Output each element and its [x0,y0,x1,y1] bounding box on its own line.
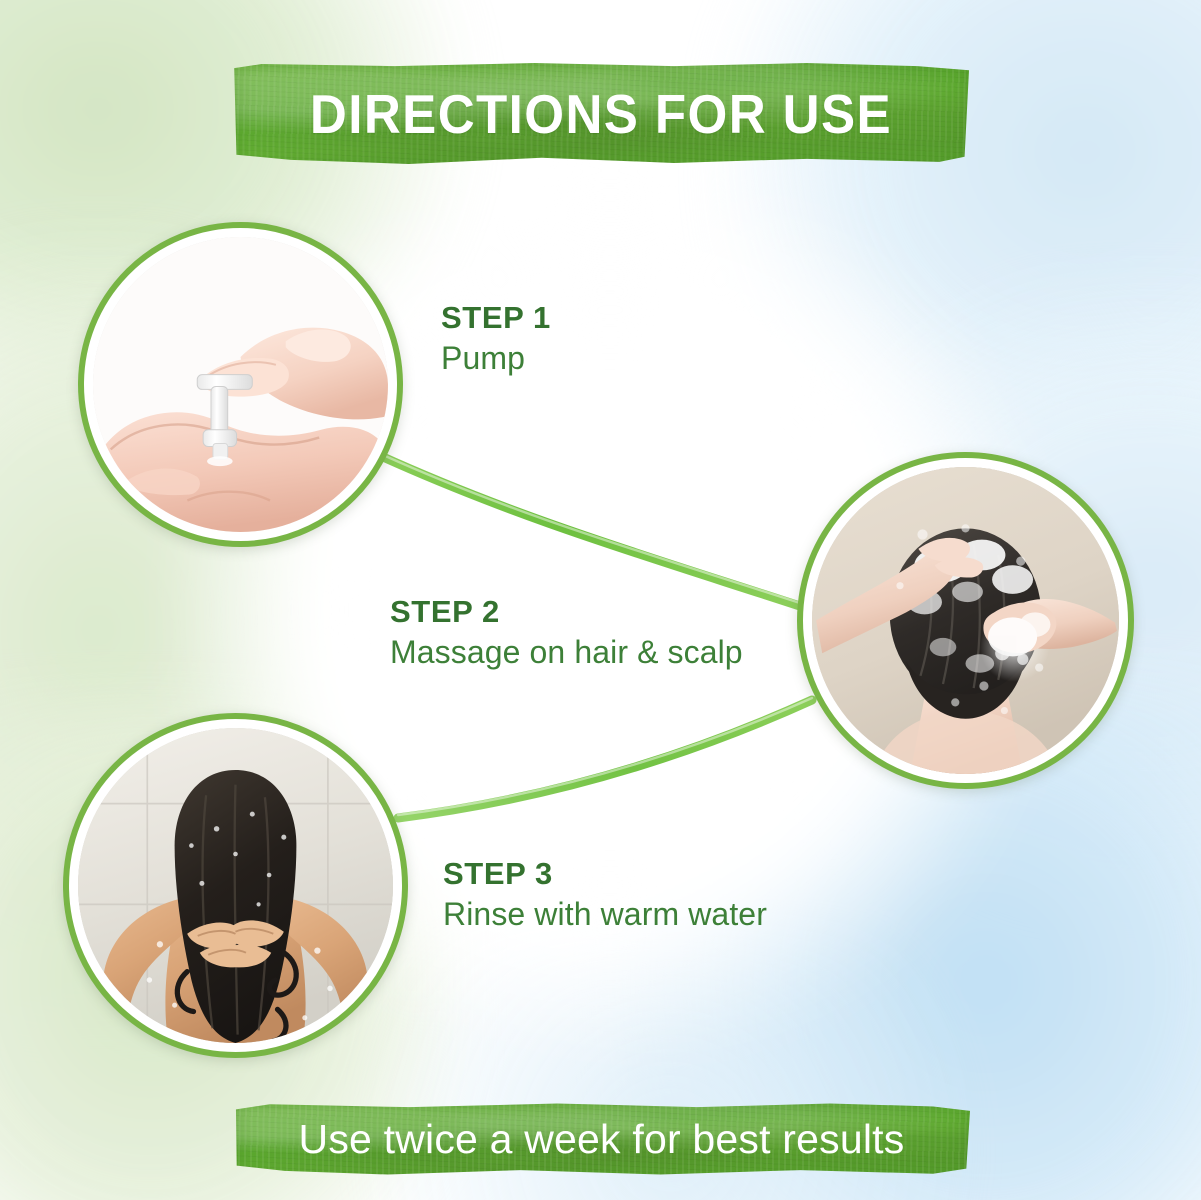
rinse-illustration [78,728,393,1043]
step-1-description: Pump [441,342,551,376]
massage-illustration [812,467,1119,774]
page-title: DIRECTIONS FOR USE [309,82,891,146]
pump-illustration [93,237,388,532]
pump-photo [93,237,388,532]
step-3-number: STEP 3 [443,858,767,889]
footer-banner: Use twice a week for best results [233,1102,970,1176]
step-3-text: STEP 3 Rinse with warm water [443,858,767,932]
rinse-photo [78,728,393,1043]
step-1-text: STEP 1 Pump [441,302,551,376]
step-2-description: Massage on hair & scalp [390,636,743,670]
step-3-description: Rinse with warm water [443,898,767,932]
step-1-image-circle [78,222,403,547]
massage-photo [812,467,1119,774]
step-1-number: STEP 1 [441,302,551,333]
footer-note: Use twice a week for best results [299,1116,905,1163]
step-3-image-circle [63,713,408,1058]
title-banner: DIRECTIONS FOR USE [232,62,969,165]
step-2-image-circle [797,452,1134,789]
step-2-text: STEP 2 Massage on hair & scalp [390,596,743,670]
step-2-number: STEP 2 [390,596,743,627]
